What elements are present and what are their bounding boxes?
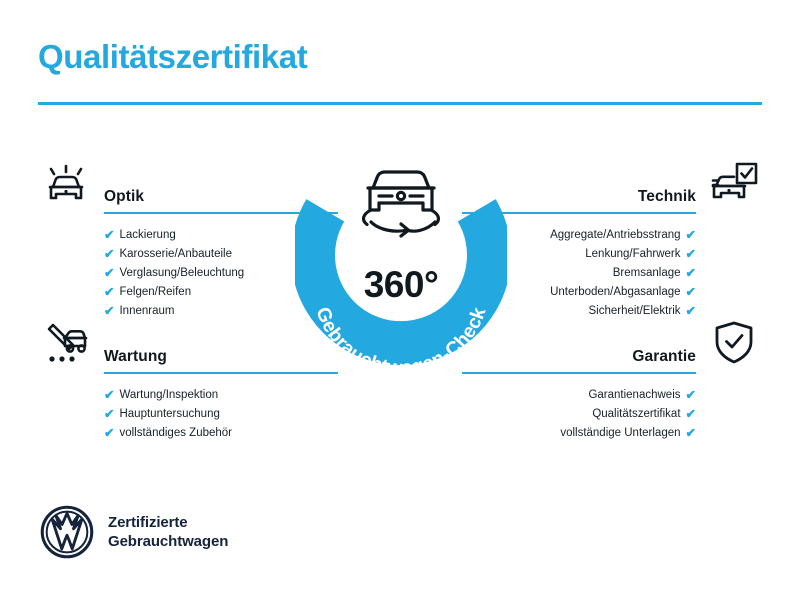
section-garantie: Garantie ✔Garantienachweis ✔Qualitätszer… (462, 320, 762, 443)
list-item: ✔vollständige Unterlagen (462, 424, 696, 443)
section-header: Wartung (38, 320, 338, 376)
checklist-optik: ✔Lackierung ✔Karosserie/Anbauteile ✔Verg… (38, 226, 338, 321)
section-title-garantie: Garantie (632, 348, 696, 366)
title-divider (38, 102, 762, 105)
list-item: ✔Qualitätszertifikat (462, 405, 696, 424)
list-item-label: Lackierung (119, 226, 175, 245)
list-item-label: Hauptuntersuchung (119, 405, 219, 424)
check-icon: ✔ (686, 389, 696, 402)
check-icon: ✔ (104, 267, 114, 280)
list-item-label: Felgen/Reifen (119, 283, 191, 302)
check-icon: ✔ (686, 408, 696, 421)
vw-logo-line1: Zertifizierte (108, 513, 228, 532)
list-item: ✔vollständiges Zubehör (104, 424, 338, 443)
list-item-label: vollständige Unterlagen (560, 424, 680, 443)
vw-logo-text: Zertifizierte Gebrauchtwagen (108, 513, 228, 551)
check-icon: ✔ (104, 389, 114, 402)
list-item-label: Bremsanlage (613, 264, 681, 283)
badge-degrees-label: 360° (295, 264, 507, 306)
check-icon: ✔ (686, 305, 696, 318)
vw-logo-icon (40, 505, 94, 559)
section-technik: Technik ✔Aggregate/Antriebsstrang ✔Lenku… (462, 160, 762, 321)
vw-logo-line2: Gebrauchtwagen (108, 532, 228, 551)
vw-certified-logo: Zertifizierte Gebrauchtwagen (40, 505, 228, 559)
check-icon: ✔ (686, 229, 696, 242)
list-item-label: Lenkung/Fahrwerk (585, 245, 680, 264)
list-item-label: Innenraum (119, 302, 174, 321)
section-wartung: Wartung ✔Wartung/Inspektion ✔Hauptunters… (38, 320, 338, 443)
list-item-label: Garantienachweis (588, 386, 680, 405)
list-item: ✔Garantienachweis (462, 386, 696, 405)
check-icon: ✔ (104, 248, 114, 261)
section-header: Optik (38, 160, 338, 216)
list-item-label: Sicherheit/Elektrik (588, 302, 680, 321)
quality-certificate-page: Qualitätszertifikat Optik ✔Lackierung ✔K… (0, 0, 800, 600)
list-item: ✔Hauptuntersuchung (104, 405, 338, 424)
shield-check-icon (706, 320, 762, 372)
check-icon: ✔ (104, 305, 114, 318)
check-icon: ✔ (686, 286, 696, 299)
check-icon: ✔ (686, 248, 696, 261)
check-icon: ✔ (686, 267, 696, 280)
car-service-wrench-icon (38, 320, 94, 372)
list-item-label: Qualitätszertifikat (592, 405, 680, 424)
checklist-garantie: ✔Garantienachweis ✔Qualitätszertifikat ✔… (462, 386, 762, 443)
checklist-wartung: ✔Wartung/Inspektion ✔Hauptuntersuchung ✔… (38, 386, 338, 443)
list-item-label: Karosserie/Anbauteile (119, 245, 232, 264)
car-checkbox-icon (706, 160, 762, 212)
check-icon: ✔ (104, 427, 114, 440)
list-item-label: vollständiges Zubehör (119, 424, 232, 443)
section-header: Garantie (462, 320, 762, 376)
list-item-label: Wartung/Inspektion (119, 386, 218, 405)
list-item-label: Aggregate/Antriebsstrang (550, 226, 680, 245)
list-item: ✔Wartung/Inspektion (104, 386, 338, 405)
section-title-optik: Optik (104, 188, 144, 206)
car-shine-icon (38, 160, 94, 212)
section-optik: Optik ✔Lackierung ✔Karosserie/Anbauteile… (38, 160, 338, 321)
section-title-technik: Technik (638, 188, 696, 206)
check-icon: ✔ (104, 408, 114, 421)
list-item-label: Unterboden/Abgasanlage (550, 283, 680, 302)
checklist-technik: ✔Aggregate/Antriebsstrang ✔Lenkung/Fahrw… (462, 226, 762, 321)
check-icon: ✔ (104, 286, 114, 299)
check-icon: ✔ (686, 427, 696, 440)
check-icon: ✔ (104, 229, 114, 242)
badge-360-gebrauchtwagen-check: Gebrauchtwagen-Check 360° (295, 148, 507, 380)
section-header: Technik (462, 160, 762, 216)
list-item-label: Verglasung/Beleuchtung (119, 264, 244, 283)
page-title: Qualitätszertifikat (38, 40, 307, 73)
section-title-wartung: Wartung (104, 348, 167, 366)
